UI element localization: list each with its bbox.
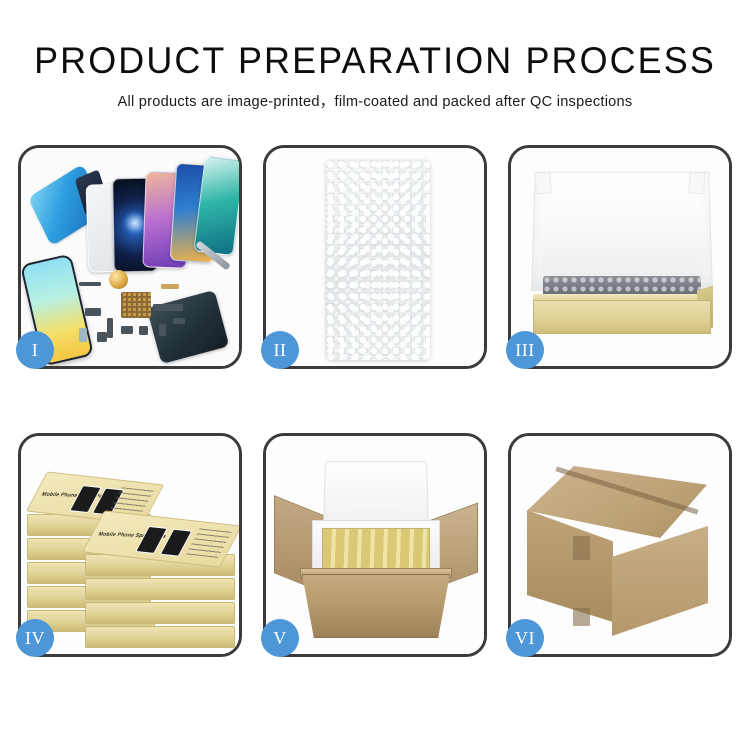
step-5-photo (266, 436, 484, 654)
process-step-panel-4: Mobile Phone Spare Parts Mobile Phone Sp… (18, 433, 242, 657)
box-tab-icon (688, 171, 705, 194)
foam-sheet-icon (541, 210, 703, 280)
step-3-photo (511, 148, 729, 366)
process-step-panel-2: II (263, 145, 487, 369)
step-4-photo: Mobile Phone Spare Parts Mobile Phone Sp… (21, 436, 239, 654)
carton-tape-icon (573, 536, 590, 560)
carton-tape-icon (573, 608, 590, 626)
shield-mesh-icon (121, 292, 151, 318)
step-badge-1: I (16, 331, 54, 369)
page-title: PRODUCT PREPARATION PROCESS (11, 41, 739, 81)
bubble-wrap-texture (326, 160, 430, 360)
product-preparation-process-page: PRODUCT PREPARATION PROCESS All products… (0, 0, 750, 750)
kraft-box-front-icon (533, 300, 711, 334)
page-subtitle: All products are image-printed，film-coat… (0, 90, 750, 111)
small-components-group (77, 274, 199, 356)
process-step-panel-1: I (18, 145, 242, 369)
process-step-panel-5: V (263, 433, 487, 657)
step-badge-3: III (506, 331, 544, 369)
carton-left-face-icon (527, 510, 613, 622)
step-6-photo (511, 436, 729, 654)
process-steps-grid: I II (18, 145, 732, 675)
retail-box-stack: Mobile Phone Spare Parts Mobile Phone Sp… (27, 462, 239, 640)
step-1-photo (21, 148, 239, 366)
carton-right-face-icon (612, 526, 708, 636)
step-2-photo (266, 148, 484, 366)
process-step-panel-6: VI (508, 433, 732, 657)
carton-front-icon (302, 574, 450, 638)
box-tab-icon (534, 171, 551, 194)
process-step-panel-3: III (508, 145, 732, 369)
step-badge-5: V (261, 619, 299, 657)
foam-lid-icon (323, 461, 429, 528)
step-badge-4: IV (16, 619, 54, 657)
stacked-retail-boxes-inside-icon (322, 528, 430, 570)
step-badge-2: II (261, 331, 299, 369)
step-badge-6: VI (506, 619, 544, 657)
page-header: PRODUCT PREPARATION PROCESS All products… (0, 0, 750, 111)
